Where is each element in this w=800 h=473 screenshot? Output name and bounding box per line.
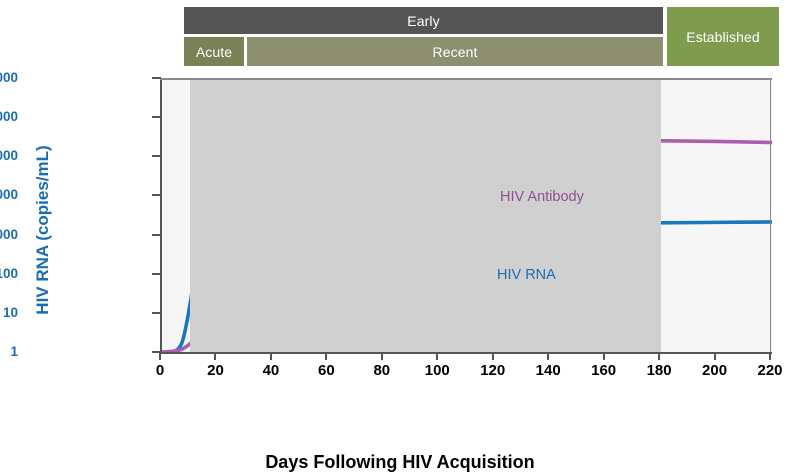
- y-axis-title: HIV RNA (copies/mL): [33, 115, 53, 345]
- x-tick-mark: [603, 352, 605, 360]
- x-axis-title: Days Following HIV Acquisition: [0, 452, 800, 473]
- y-tick-label: 100: [0, 267, 18, 281]
- x-tick-label: 80: [373, 362, 390, 379]
- x-tick-label: 100: [425, 362, 450, 379]
- y-tick-mark: [152, 312, 161, 314]
- phase-bar-established-label: Established: [686, 29, 759, 45]
- phase-bar-early-label: Early: [407, 13, 439, 29]
- x-tick-mark: [547, 352, 549, 360]
- y-tick-mark: [152, 273, 161, 275]
- x-tick-mark: [325, 352, 327, 360]
- phase-bar-established: Established: [666, 6, 780, 67]
- x-tick-mark: [492, 352, 494, 360]
- series-label-hiv-rna: HIV RNA: [497, 267, 556, 283]
- x-tick-mark: [270, 352, 272, 360]
- x-tick-mark: [436, 352, 438, 360]
- phase-bar-group: Early Acute Recent Established: [183, 6, 780, 68]
- y-tick-label: 1,000,000: [0, 110, 18, 124]
- x-tick-label: 160: [591, 362, 616, 379]
- y-tick-label: 10,000: [0, 188, 18, 202]
- x-tick-label: 200: [702, 362, 727, 379]
- plot-wrapper: 10,000,0001,000,000100,00010,0001,000100…: [0, 70, 800, 360]
- y-tick-mark: [152, 116, 161, 118]
- phase-bar-early: Early: [183, 6, 664, 35]
- x-tick-mark: [714, 352, 716, 360]
- x-tick-mark: [769, 352, 771, 360]
- x-tick-mark: [214, 352, 216, 360]
- x-tick-label: 220: [757, 362, 782, 379]
- x-tick-label: 60: [318, 362, 335, 379]
- series-label-hiv-antibody: HIV Antibody: [500, 189, 584, 205]
- chart-root: Early Acute Recent Established 10,000,00…: [0, 0, 800, 415]
- x-tick-label: 20: [207, 362, 224, 379]
- y-tick-mark: [152, 234, 161, 236]
- x-tick-label: 40: [263, 362, 280, 379]
- x-tick-label: 120: [480, 362, 505, 379]
- phase-bar-recent: Recent: [246, 36, 664, 67]
- x-tick-mark: [381, 352, 383, 360]
- phase-bar-recent-label: Recent: [433, 44, 478, 60]
- y-tick-label: 10: [3, 306, 18, 320]
- y-tick-mark: [152, 77, 161, 79]
- y-axis: 10,000,0001,000,000100,00010,0001,000100…: [0, 70, 800, 360]
- y-tick-mark: [152, 155, 161, 157]
- x-tick-mark: [159, 352, 161, 360]
- x-tick-label: 0: [156, 362, 164, 379]
- y-tick-mark: [152, 194, 161, 196]
- phase-bar-acute: Acute: [183, 36, 245, 67]
- x-tick-mark: [658, 352, 660, 360]
- y-tick-label: 1: [10, 345, 18, 359]
- phase-bar-acute-label: Acute: [196, 44, 232, 60]
- x-tick-label: 180: [647, 362, 672, 379]
- y-tick-label: 100,000: [0, 149, 18, 163]
- y-tick-label: 10,000,000: [0, 71, 18, 85]
- y-tick-label: 1,000: [0, 228, 18, 242]
- x-tick-label: 140: [536, 362, 561, 379]
